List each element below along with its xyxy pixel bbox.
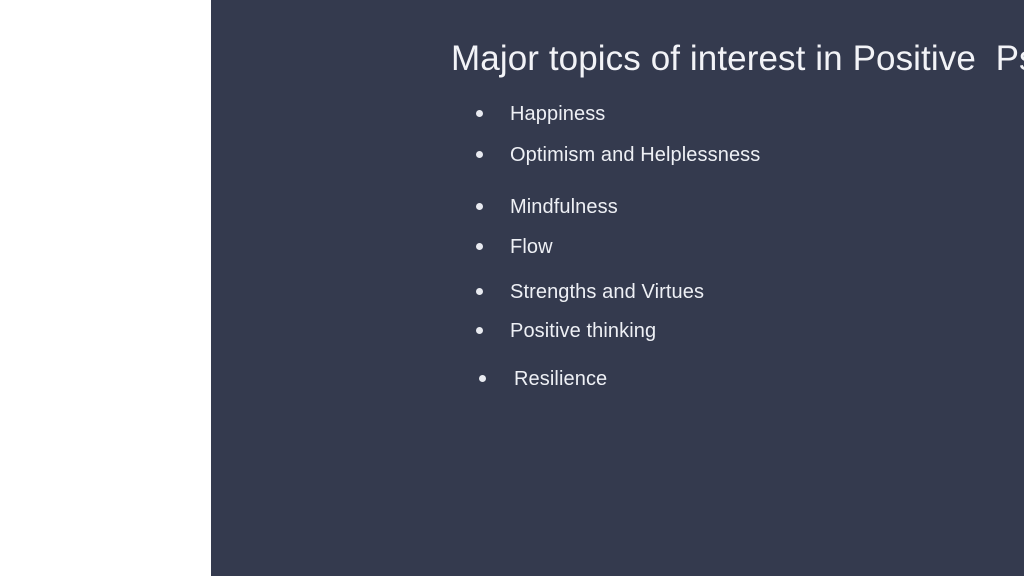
bullet-dot-icon [476, 288, 483, 295]
list-item-label: Positive thinking [510, 319, 656, 343]
bullet-dot-icon [476, 110, 483, 117]
page-title: Major topics of interest in Positive Psy… [451, 38, 1024, 80]
list-item-label: Resilience [514, 367, 607, 391]
bullet-dot-icon [476, 151, 483, 158]
bullet-dot-icon [476, 243, 483, 250]
presentation-slide: Major topics of interest in Positive Psy… [0, 0, 1024, 576]
list-item-label: Optimism and Helplessness [510, 143, 760, 167]
slide-content-panel: Major topics of interest in Positive Psy… [211, 0, 1024, 576]
bullet-dot-icon [479, 375, 486, 382]
bullet-dot-icon [476, 327, 483, 334]
list-item-label: Mindfulness [510, 195, 618, 219]
list-item-label: Happiness [510, 102, 605, 126]
bullet-dot-icon [476, 203, 483, 210]
list-item-label: Strengths and Virtues [510, 280, 704, 304]
list-item-label: Flow [510, 235, 553, 259]
